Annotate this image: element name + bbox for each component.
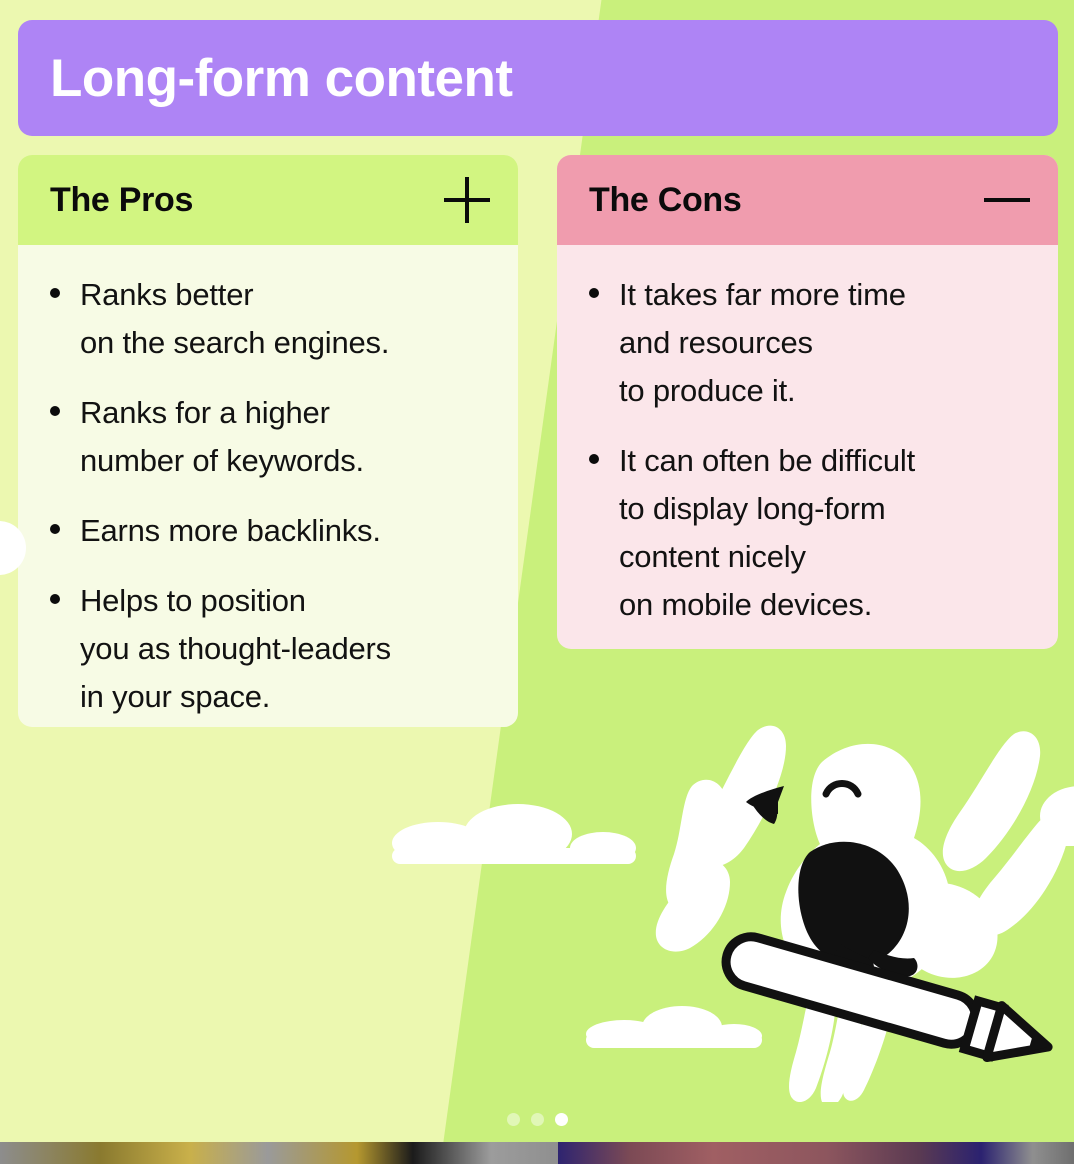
pagination-dot-3[interactable] [555, 1113, 568, 1126]
list-item: It takes far more time and resources to … [583, 271, 1038, 415]
minus-icon[interactable] [984, 177, 1030, 223]
pros-item-text: Ranks for a higher number of keywords. [80, 389, 364, 485]
pagination-dot-1[interactable] [507, 1113, 520, 1126]
carousel-pagination [0, 1113, 1074, 1126]
pros-item-text: Helps to position you as thought-leaders… [80, 577, 391, 721]
cons-item-text: It can often be difficult to display lon… [619, 437, 915, 629]
bullet-icon [50, 594, 60, 604]
pros-item-text: Ranks better on the search engines. [80, 271, 389, 367]
next-slide-peek[interactable] [0, 1142, 1074, 1164]
pros-card-header[interactable]: The Pros [18, 155, 518, 245]
bullet-icon [50, 288, 60, 298]
list-item: Ranks for a higher number of keywords. [44, 389, 498, 485]
pros-card-title: The Pros [50, 181, 193, 220]
slide-screen: Long-form content The Pros Ranks better … [0, 0, 1074, 1164]
cons-card-body: It takes far more time and resources to … [557, 245, 1058, 649]
list-item: Helps to position you as thought-leaders… [44, 577, 498, 721]
slide-title-banner: Long-form content [18, 20, 1058, 136]
bullet-icon [589, 288, 599, 298]
pagination-dot-2[interactable] [531, 1113, 544, 1126]
pros-card-body: Ranks better on the search engines. Rank… [18, 245, 518, 727]
cons-item-text: It takes far more time and resources to … [619, 271, 906, 415]
next-slide-peek-right [558, 1142, 1074, 1164]
pros-item-text: Earns more backlinks. [80, 507, 381, 555]
cons-list: It takes far more time and resources to … [583, 271, 1038, 629]
dove-on-pencil-illustration [640, 712, 1070, 1102]
page-title: Long-form content [18, 52, 513, 105]
list-item: Earns more backlinks. [44, 507, 498, 555]
cloud-icon [392, 816, 636, 864]
pros-card: The Pros Ranks better on the search engi… [18, 155, 518, 727]
cons-card-header[interactable]: The Cons [557, 155, 1058, 245]
pros-list: Ranks better on the search engines. Rank… [44, 271, 498, 721]
bullet-icon [50, 406, 60, 416]
cons-card: The Cons It takes far more time and reso… [557, 155, 1058, 649]
next-slide-peek-left [0, 1142, 558, 1164]
bullet-icon [50, 524, 60, 534]
plus-icon[interactable] [444, 177, 490, 223]
bullet-icon [589, 454, 599, 464]
list-item: It can often be difficult to display lon… [583, 437, 1038, 629]
cons-card-title: The Cons [589, 181, 742, 220]
list-item: Ranks better on the search engines. [44, 271, 498, 367]
